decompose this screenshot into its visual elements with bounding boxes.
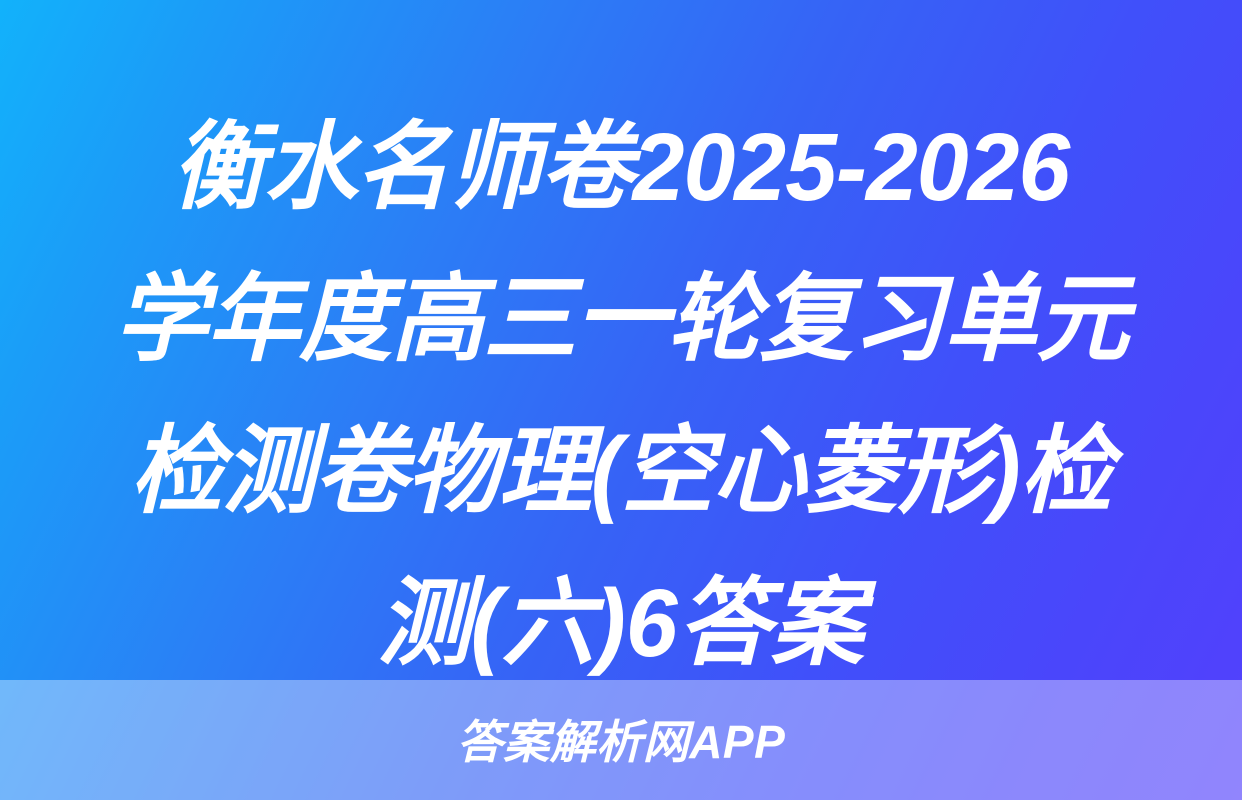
title-card: 衡水名师卷2025-2026 学年度高三一轮复习单元 检测卷物理(空心菱形)检 … (0, 0, 1242, 800)
title-line-1: 衡水名师卷2025-2026 (172, 92, 1069, 244)
title-line-4: 测(六)6答案 (378, 548, 864, 700)
footer-band: 答案解析网APP (0, 680, 1242, 800)
page-title: 衡水名师卷2025-2026 学年度高三一轮复习单元 检测卷物理(空心菱形)检 … (52, 92, 1190, 672)
watermark-text: 答案解析网APP (457, 719, 786, 765)
title-line-3: 检测卷物理(空心菱形)检 (130, 396, 1112, 548)
title-line-2: 学年度高三一轮复习单元 (114, 244, 1128, 396)
